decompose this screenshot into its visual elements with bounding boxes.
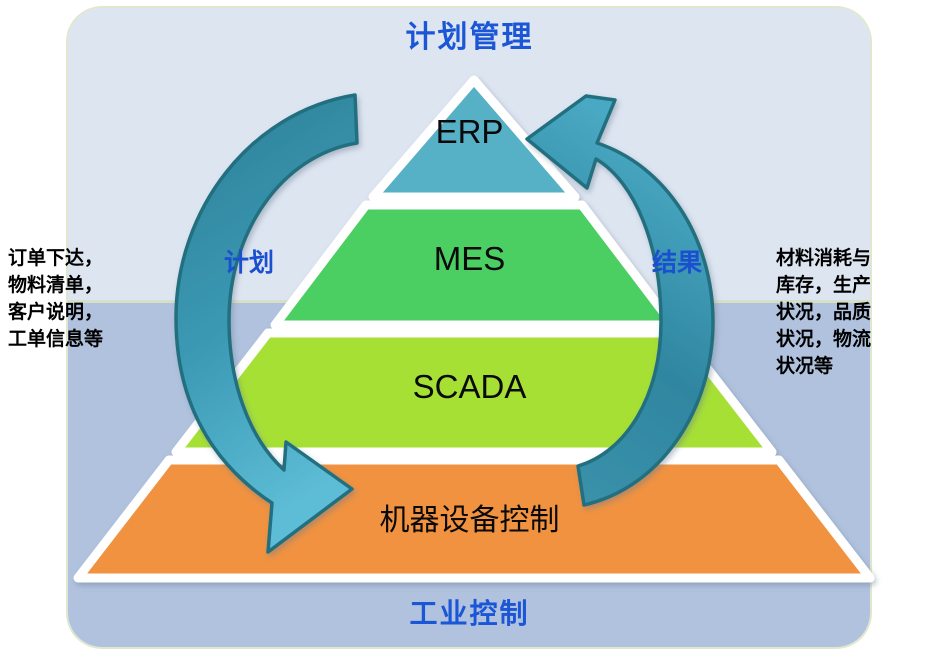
plan-arrow bbox=[176, 95, 357, 552]
top-title: 计划管理 bbox=[0, 12, 939, 56]
result-arrow bbox=[527, 96, 713, 505]
result-arrow-label: 结果 bbox=[652, 243, 702, 279]
bottom-title: 工业控制 bbox=[0, 592, 939, 632]
diagram-canvas: ERP MES SCADA 机器设备控制 计划管理 工业控制 订单下达， 物料清… bbox=[0, 0, 939, 655]
plan-arrow-label: 计划 bbox=[224, 243, 274, 279]
right-note-text: 材料消耗与 库存，生产 状况，品质 状况，物流 状况等 bbox=[776, 246, 939, 381]
left-note-text: 订单下达， 物料清单， 客户说明， 工单信息等 bbox=[8, 246, 168, 354]
